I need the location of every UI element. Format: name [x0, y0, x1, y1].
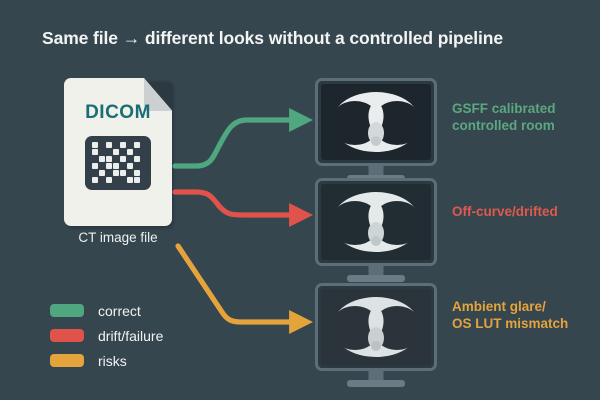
ct-thorax-icon — [322, 289, 430, 365]
legend: correct drift/failure risks — [50, 298, 163, 373]
monitor-calibrated — [315, 78, 437, 182]
monitor-base — [347, 275, 405, 282]
legend-item-drift-failure: drift/failure — [50, 323, 163, 348]
legend-label-correct: correct — [98, 303, 141, 319]
monitor-off-curve — [315, 178, 437, 282]
monitor-base — [347, 380, 405, 387]
monitor-screen — [321, 184, 431, 260]
legend-label-drift-failure: drift/failure — [98, 328, 163, 344]
legend-swatch-drift-failure — [50, 329, 84, 342]
caption-line-1: Ambient glare/ — [452, 298, 568, 315]
caption-calibrated: GSFF calibrated controlled room — [452, 100, 556, 134]
monitor-screen — [321, 289, 431, 365]
caption-ambient-glare: Ambient glare/ OS LUT mismatch — [452, 298, 568, 332]
legend-item-risks: risks — [50, 348, 163, 373]
monitor-bezel — [315, 283, 437, 371]
legend-swatch-correct — [50, 304, 84, 317]
legend-label-risks: risks — [98, 353, 127, 369]
monitor-bezel — [315, 178, 437, 266]
infographic-canvas: Same file → different looks without a co… — [0, 0, 600, 400]
arrow-correct — [175, 120, 300, 166]
monitor-bezel — [315, 78, 437, 166]
monitor-screen — [321, 84, 431, 160]
arrow-risks — [178, 246, 300, 322]
ct-thorax-icon — [322, 84, 430, 160]
caption-off-curve: Off-curve/drifted — [452, 203, 558, 220]
legend-item-correct: correct — [50, 298, 163, 323]
caption-line-2: OS LUT mismatch — [452, 315, 568, 332]
caption-line-1: Off-curve/drifted — [452, 203, 558, 220]
ct-thorax-icon — [322, 184, 430, 260]
legend-swatch-risks — [50, 354, 84, 367]
caption-line-2: controlled room — [452, 117, 556, 134]
arrow-drift-failure — [175, 192, 300, 215]
caption-line-1: GSFF calibrated — [452, 100, 556, 117]
monitor-ambient-glare — [315, 283, 437, 387]
